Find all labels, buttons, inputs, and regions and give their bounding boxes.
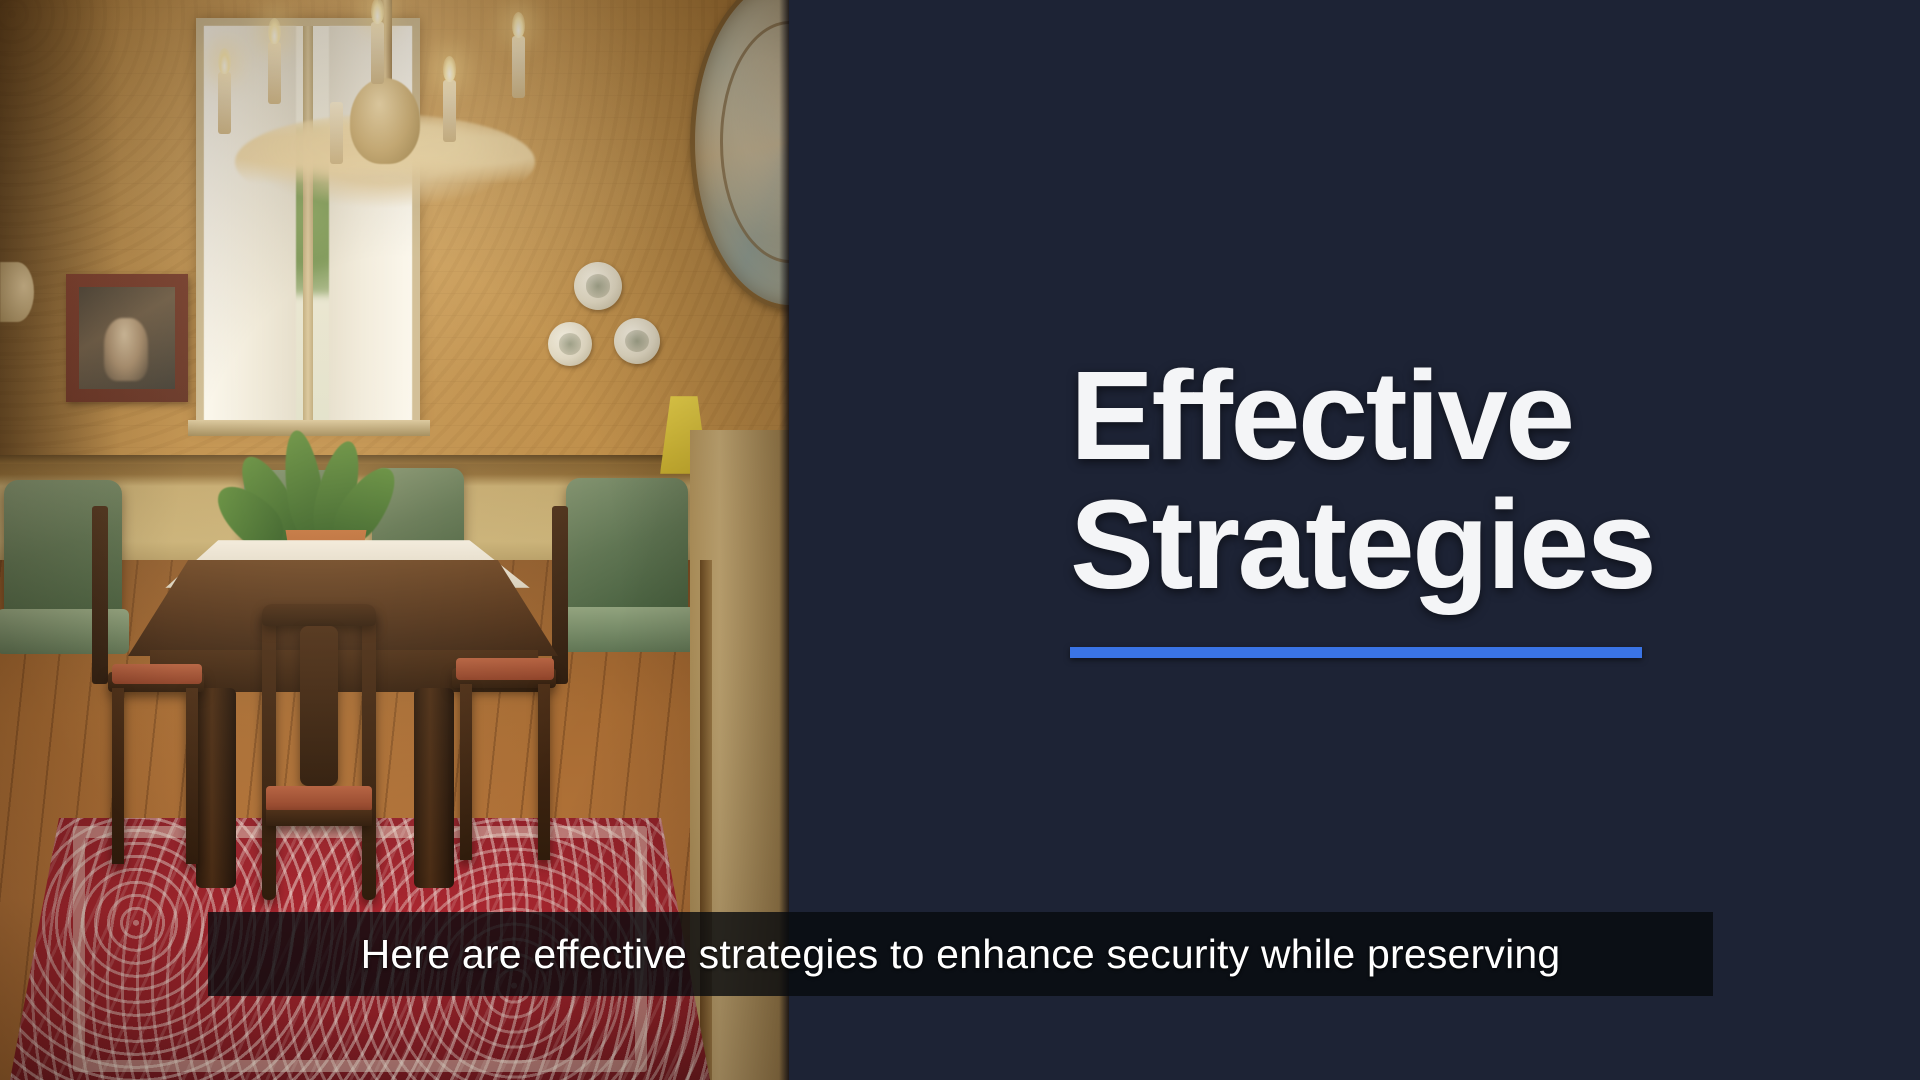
candle: [371, 22, 384, 84]
chair-stile: [92, 506, 108, 684]
wall-plate: [574, 262, 622, 310]
candle: [330, 102, 343, 164]
wall-plate: [548, 322, 592, 366]
chair-splat: [300, 626, 338, 786]
chair-leg: [112, 688, 124, 864]
wall-plate: [614, 318, 660, 364]
painting-canvas: [79, 287, 175, 389]
caption-bar: Here are effective strategies to enhance…: [208, 912, 1713, 996]
table-leg: [196, 688, 236, 888]
chair-crest-rail: [262, 604, 376, 626]
candle-flame: [443, 56, 456, 82]
framed-painting: [66, 274, 188, 402]
armchair-seat: [559, 607, 696, 652]
title-block: Effective Strategies: [1070, 352, 1690, 658]
candle: [512, 36, 525, 98]
candle: [443, 80, 456, 142]
candle: [268, 42, 281, 104]
chair-leg: [186, 688, 198, 864]
chair-cushion: [266, 786, 372, 812]
sideboard-trim: [700, 560, 712, 1080]
chair-cushion: [112, 664, 202, 684]
candle-flame: [268, 18, 281, 44]
chandelier: [190, 0, 580, 214]
chair-leg: [460, 684, 472, 860]
accent-underline: [1070, 647, 1642, 658]
caption-text: Here are effective strategies to enhance…: [361, 931, 1561, 978]
candle: [218, 72, 231, 134]
table-leg: [414, 688, 454, 888]
candle-flame: [512, 12, 525, 38]
window-sill: [188, 420, 430, 436]
title-line-1: Effective: [1070, 352, 1690, 481]
chandelier-body: [350, 78, 420, 164]
video-slide: Effective Strategies Here are effective …: [0, 0, 1920, 1080]
chair-stile-right: [362, 612, 376, 900]
chair-leg: [538, 684, 550, 860]
armchair-seat: [0, 609, 129, 654]
title-line-2: Strategies: [1070, 481, 1690, 610]
chair-cushion: [456, 658, 554, 680]
candle-flame: [371, 0, 384, 24]
armchair: [566, 478, 688, 628]
chair-stile: [552, 506, 568, 684]
wall-sconce: [0, 262, 34, 322]
painting-figure: [104, 318, 148, 381]
candle-flame: [218, 48, 231, 74]
chair-stile-left: [262, 612, 276, 900]
chair-seat-frame: [266, 810, 372, 826]
